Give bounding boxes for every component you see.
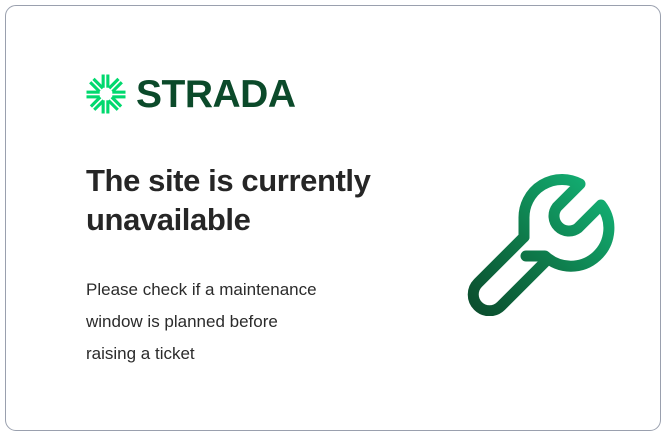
status-card: STRADA The site is currently unavailable… xyxy=(5,5,661,431)
page-title: The site is currently unavailable xyxy=(86,161,416,239)
strada-asterisk-icon xyxy=(86,74,126,114)
description-line: Please check if a maintenance xyxy=(86,274,386,306)
page-description: Please check if a maintenance window is … xyxy=(86,274,386,370)
description-line: raising a ticket xyxy=(86,338,386,370)
brand-wordmark: STRADA xyxy=(136,75,296,114)
brand-logo: STRADA xyxy=(86,74,296,114)
error-page: STRADA The site is currently unavailable… xyxy=(0,0,666,436)
description-line: window is planned before xyxy=(86,306,386,338)
wrench-icon xyxy=(461,158,617,316)
